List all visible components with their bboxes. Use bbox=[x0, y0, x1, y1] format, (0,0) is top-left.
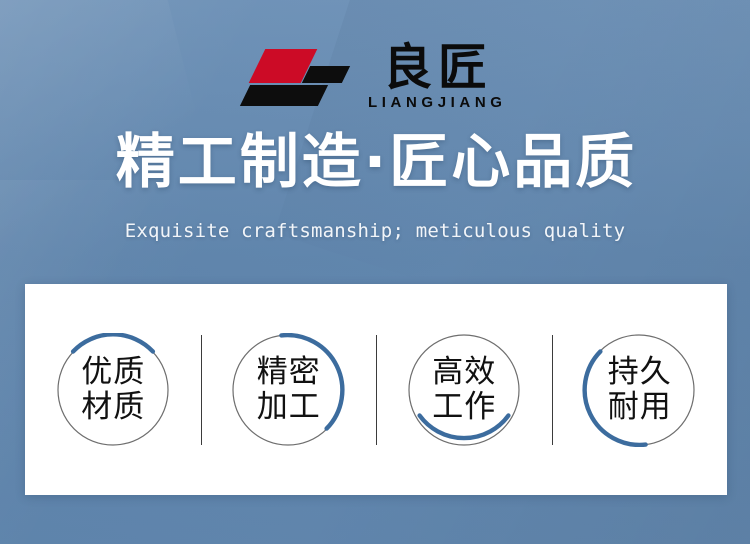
badge-label-line1: 持久 bbox=[607, 355, 672, 390]
badge-circle: 持久 耐用 bbox=[582, 333, 696, 447]
brand-logo: 良匠 LIANGJIANG bbox=[0, 43, 750, 117]
badge-label-line1: 优质 bbox=[80, 355, 145, 390]
logo-black-small-parallelogram bbox=[302, 66, 350, 83]
badge-label-line2: 工作 bbox=[431, 390, 496, 425]
badge-label-line2: 加工 bbox=[256, 390, 321, 425]
headline-english-subtitle: Exquisite craftsmanship; meticulous qual… bbox=[0, 219, 750, 243]
badge-label: 持久 耐用 bbox=[582, 333, 696, 447]
feature-card: 优质 材质 精密 加工 bbox=[25, 284, 727, 495]
badge-label-line2: 耐用 bbox=[607, 390, 672, 425]
feature-badge: 精密 加工 bbox=[201, 284, 377, 495]
feature-badge: 优质 材质 bbox=[25, 284, 201, 495]
headline-chinese: 精工制造·匠心品质 bbox=[0, 128, 750, 196]
logo-chinese-name: 良匠 bbox=[377, 43, 493, 93]
badge-label-line2: 材质 bbox=[80, 390, 145, 425]
badge-label-line1: 精密 bbox=[256, 355, 321, 390]
feature-badge: 高效 工作 bbox=[376, 284, 552, 495]
logo-mark-icon bbox=[243, 49, 349, 111]
badge-circle: 高效 工作 bbox=[407, 333, 521, 447]
badge-circle: 优质 材质 bbox=[56, 333, 170, 447]
logo-wordmark: 良匠 LIANGJIANG bbox=[363, 43, 506, 111]
feature-badge: 持久 耐用 bbox=[552, 284, 728, 495]
badge-label: 精密 加工 bbox=[231, 333, 345, 447]
badge-label: 优质 材质 bbox=[56, 333, 170, 447]
badge-label: 高效 工作 bbox=[407, 333, 521, 447]
badge-circle: 精密 加工 bbox=[231, 333, 345, 447]
badge-label-line1: 高效 bbox=[431, 355, 496, 390]
logo-english-name: LIANGJIANG bbox=[363, 95, 506, 111]
feature-badge-list: 优质 材质 精密 加工 bbox=[25, 284, 727, 495]
logo-black-large-parallelogram bbox=[240, 85, 328, 106]
promo-banner: 良匠 LIANGJIANG 精工制造·匠心品质 Exquisite crafts… bbox=[0, 0, 750, 544]
